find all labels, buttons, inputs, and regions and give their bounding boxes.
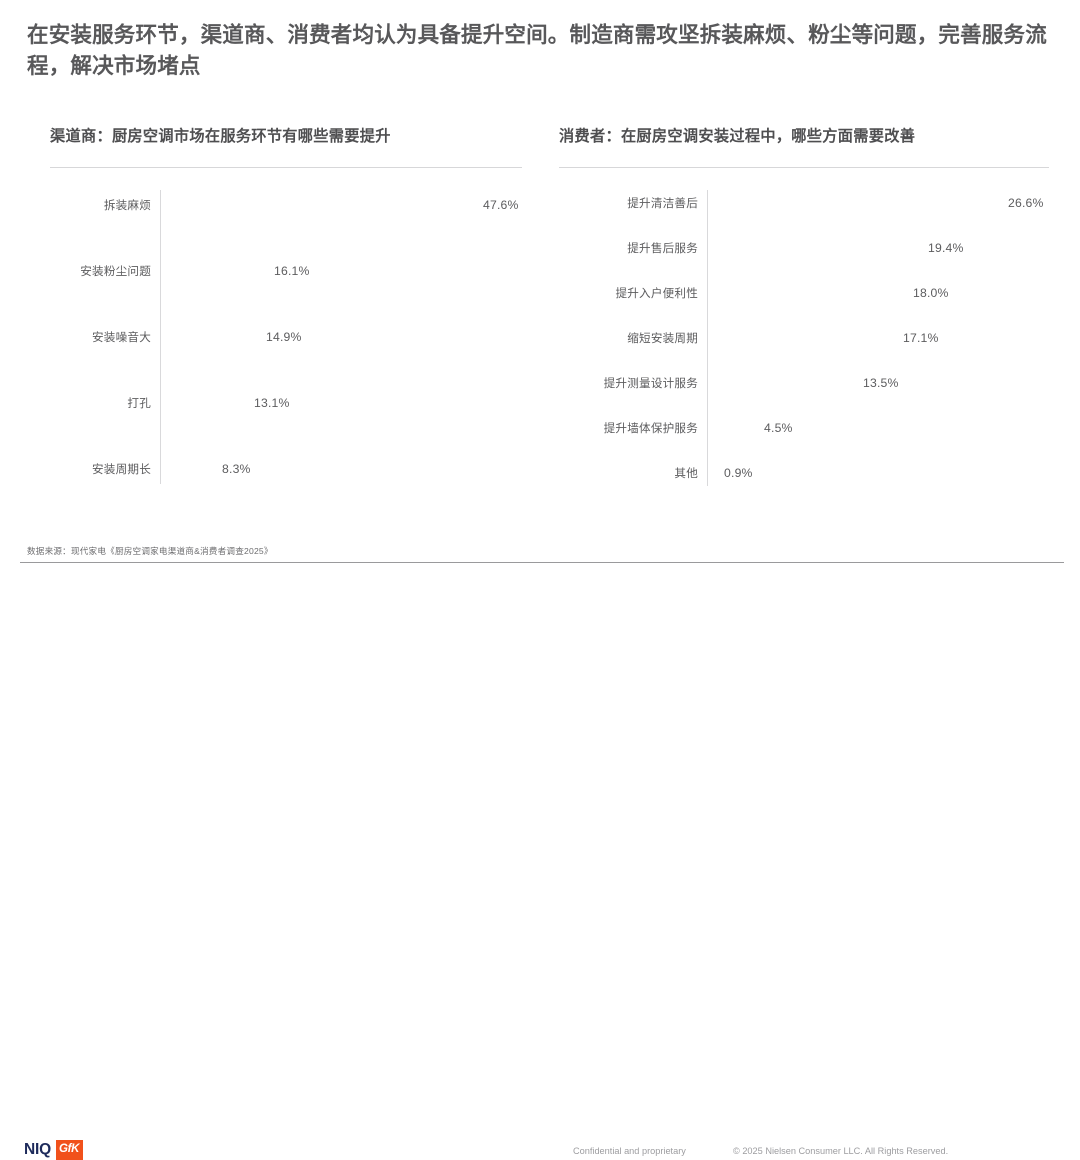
bar-track: 16.1% — [160, 264, 525, 278]
bar-value-label: 18.0% — [906, 286, 949, 300]
bar-category-label: 安装粉尘问题 — [50, 263, 160, 279]
bar-category-label: 提升测量设计服务 — [559, 375, 707, 391]
bar-value-label: 26.6% — [1001, 196, 1044, 210]
bar-track: 19.4% — [707, 241, 1053, 255]
chart-title-divider — [50, 167, 522, 168]
bar-category-label: 打孔 — [50, 395, 160, 411]
bar-value-label: 4.5% — [757, 421, 793, 435]
chart-panel-consumer: 消费者：在厨房空调安装过程中，哪些方面需要改善 提升清洁善后26.6%提升售后服… — [547, 128, 1053, 528]
bar-row: 提升清洁善后26.6% — [559, 190, 1053, 216]
bar-track: 4.5% — [707, 421, 1053, 435]
bar-category-label: 其他 — [559, 465, 707, 481]
bar-value-label: 47.6% — [476, 198, 519, 212]
bar-track: 47.6% — [160, 198, 525, 212]
chart-rows: 提升清洁善后26.6%提升售后服务19.4%提升入户便利性18.0%缩短安装周期… — [559, 190, 1053, 486]
bar-category-label: 缩短安装周期 — [559, 330, 707, 346]
bar-value-label: 14.9% — [259, 330, 302, 344]
copyright-notice: © 2025 Nielsen Consumer LLC. All Rights … — [733, 1146, 948, 1156]
bar-track: 26.6% — [707, 196, 1053, 210]
confidential-notice: Confidential and proprietary — [573, 1146, 686, 1156]
chart-rows: 拆装麻烦47.6%安装粉尘问题16.1%安装噪音大14.9%打孔13.1%安装周… — [50, 190, 525, 484]
bar-track: 17.1% — [707, 331, 1053, 345]
bar-value-label: 17.1% — [896, 331, 939, 345]
bar-track: 8.3% — [160, 462, 525, 476]
bar-row: 提升售后服务19.4% — [559, 235, 1053, 261]
bar-category-label: 安装噪音大 — [50, 329, 160, 345]
bar-category-label: 拆装麻烦 — [50, 197, 160, 213]
bar-row: 拆装麻烦47.6% — [50, 190, 525, 220]
charts-container: 渠道商：厨房空调市场在服务环节有哪些需要提升 拆装麻烦47.6%安装粉尘问题16… — [27, 128, 1053, 528]
bar-track: 14.9% — [160, 330, 525, 344]
bar-row: 提升墙体保护服务4.5% — [559, 415, 1053, 441]
bar-row: 缩短安装周期17.1% — [559, 325, 1053, 351]
bar-category-label: 提升入户便利性 — [559, 285, 707, 301]
bar-value-label: 13.1% — [247, 396, 290, 410]
bar-row: 打孔13.1% — [50, 388, 525, 418]
bar-track: 0.9% — [707, 466, 1053, 480]
source-note: 数据来源：现代家电《厨房空调家电渠道商&消费者调查2025》 — [27, 545, 273, 557]
bar-category-label: 安装周期长 — [50, 461, 160, 477]
bar-category-label: 提升墙体保护服务 — [559, 420, 707, 436]
bar-value-label: 13.5% — [856, 376, 899, 390]
bar-value-label: 16.1% — [267, 264, 310, 278]
bar-category-label: 提升售后服务 — [559, 240, 707, 256]
bar-row: 其他0.9% — [559, 460, 1053, 486]
bar-value-label: 8.3% — [215, 462, 251, 476]
bar-track: 18.0% — [707, 286, 1053, 300]
bar-track: 13.1% — [160, 396, 525, 410]
chart-title-consumer: 消费者：在厨房空调安装过程中，哪些方面需要改善 — [559, 128, 1053, 149]
bar-chart-consumer: 提升清洁善后26.6%提升售后服务19.4%提升入户便利性18.0%缩短安装周期… — [559, 190, 1053, 486]
slide: 在安装服务环节，渠道商、消费者均认为具备提升空间。制造商需攻坚拆装麻烦、粉尘等问… — [0, 0, 1080, 607]
bar-row: 安装周期长8.3% — [50, 454, 525, 484]
brand-logo: NIQ GfK — [24, 1140, 83, 1160]
gfk-logo-text: GfK — [56, 1140, 83, 1160]
bar-row: 提升入户便利性18.0% — [559, 280, 1053, 306]
bar-row: 提升测量设计服务13.5% — [559, 370, 1053, 396]
bar-row: 安装噪音大14.9% — [50, 322, 525, 352]
niq-logo-text: NIQ — [24, 1142, 51, 1158]
bar-value-label: 0.9% — [717, 466, 753, 480]
bar-value-label: 19.4% — [921, 241, 964, 255]
chart-panel-channel: 渠道商：厨房空调市场在服务环节有哪些需要提升 拆装麻烦47.6%安装粉尘问题16… — [27, 128, 525, 528]
chart-title-divider — [559, 167, 1049, 168]
bar-row: 安装粉尘问题16.1% — [50, 256, 525, 286]
bar-category-label: 提升清洁善后 — [559, 195, 707, 211]
bar-chart-channel: 拆装麻烦47.6%安装粉尘问题16.1%安装噪音大14.9%打孔13.1%安装周… — [50, 190, 525, 484]
footer: NIQ GfK Confidential and proprietary © 2… — [0, 563, 1080, 607]
bar-track: 13.5% — [707, 376, 1053, 390]
page-title: 在安装服务环节，渠道商、消费者均认为具备提升空间。制造商需攻坚拆装麻烦、粉尘等问… — [27, 20, 1057, 81]
chart-title-channel: 渠道商：厨房空调市场在服务环节有哪些需要提升 — [50, 128, 525, 149]
